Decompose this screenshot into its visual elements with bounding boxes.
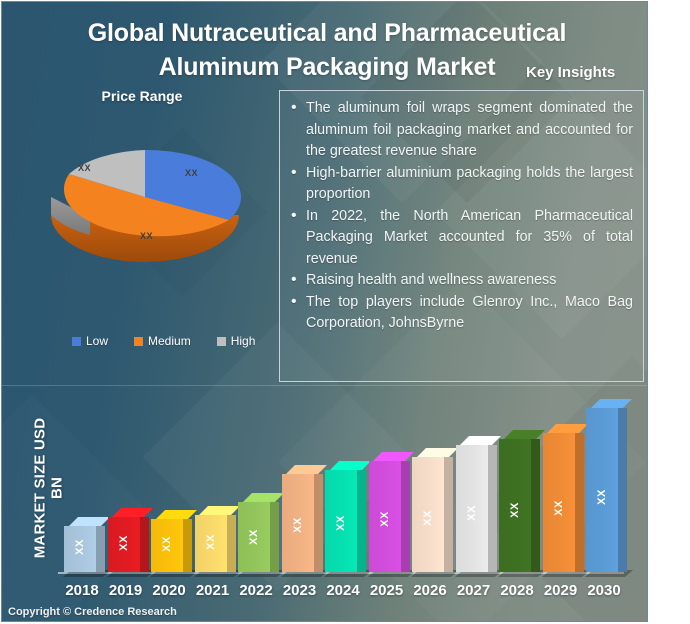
- pie-label-low: XX: [185, 168, 198, 178]
- x-axis-label-2020: 2020: [146, 582, 192, 599]
- infographic-root: Global Nutraceutical and Pharmaceutical …: [0, 0, 690, 624]
- legend-label-medium: Medium: [148, 334, 191, 348]
- x-axis-label-2024: 2024: [320, 582, 366, 599]
- list-item: In 2022, the North American Pharmaceutic…: [290, 206, 633, 271]
- pie-chart: XX XX XX: [30, 130, 260, 265]
- list-item: Raising health and wellness awareness: [290, 270, 633, 292]
- bar-value-label: XX: [422, 502, 434, 534]
- pie-chart-svg: [30, 130, 260, 265]
- legend-label-high: High: [231, 334, 256, 348]
- bar-side-face: [618, 408, 627, 572]
- x-axis-label-2018: 2018: [59, 582, 105, 599]
- bar-2025[interactable]: XX: [369, 461, 401, 572]
- legend-label-low: Low: [86, 334, 108, 348]
- legend-item-high[interactable]: High: [217, 334, 256, 348]
- legend-swatch-high: [217, 337, 226, 346]
- bar-2019[interactable]: XX: [108, 517, 140, 572]
- key-insights-heading: Key Insights: [526, 64, 615, 81]
- bar-value-label: XX: [74, 531, 86, 563]
- bar-2026[interactable]: XX: [412, 457, 444, 572]
- bar-2023[interactable]: XX: [282, 474, 314, 572]
- x-axis-label-2026: 2026: [407, 582, 453, 599]
- bar-2027[interactable]: XX: [456, 445, 488, 572]
- list-item: The aluminum foil wraps segment dominate…: [290, 98, 633, 163]
- bar-2022[interactable]: XX: [238, 502, 270, 572]
- copyright-notice: Copyright © Credence Research: [8, 606, 177, 618]
- x-axis-label-2022: 2022: [233, 582, 279, 599]
- list-item: The top players include Glenroy Inc., Ma…: [290, 292, 633, 335]
- bar-value-label: XX: [335, 507, 347, 539]
- x-axis-label-2027: 2027: [451, 582, 497, 599]
- bar-side-face: [357, 470, 366, 572]
- x-axis-label-2028: 2028: [494, 582, 540, 599]
- legend-swatch-medium: [134, 337, 143, 346]
- poster-canvas: Global Nutraceutical and Pharmaceutical …: [1, 1, 648, 622]
- bar-side-face: [575, 433, 584, 572]
- bar-side-face: [531, 439, 540, 572]
- bar-2018[interactable]: XX: [64, 526, 96, 572]
- bar-side-face: [270, 502, 279, 572]
- bar-2021[interactable]: XX: [195, 515, 227, 572]
- bar-side-face: [488, 445, 497, 572]
- legend-item-low[interactable]: Low: [72, 334, 108, 348]
- bar-value-label: XX: [205, 526, 217, 558]
- bar-value-label: XX: [248, 521, 260, 553]
- bar-chart: MARKET SIZE USD BN XXXXXXXXXXXXXXXXXXXXX…: [2, 386, 648, 622]
- x-axis-label-2019: 2019: [103, 582, 149, 599]
- bar-chart-x-axis: 2018201920202021202220232024202520262027…: [58, 582, 633, 606]
- bar-side-face: [96, 526, 105, 572]
- bar-side-face: [444, 457, 453, 572]
- bar-side-face: [401, 461, 410, 572]
- bar-value-label: XX: [596, 481, 608, 513]
- legend-item-medium[interactable]: Medium: [134, 334, 191, 348]
- bar-2030[interactable]: XX: [586, 408, 618, 572]
- bar-value-label: XX: [161, 528, 173, 560]
- pie-label-high: XX: [78, 163, 91, 173]
- key-insights-panel: The aluminum foil wraps segment dominate…: [279, 90, 644, 382]
- bar-side-face: [227, 515, 236, 572]
- bar-value-label: XX: [466, 497, 478, 529]
- bar-value-label: XX: [292, 509, 304, 541]
- x-axis-label-2023: 2023: [277, 582, 323, 599]
- bar-2024[interactable]: XX: [325, 470, 357, 572]
- bar-value-label: XX: [553, 492, 565, 524]
- key-insights-list: The aluminum foil wraps segment dominate…: [290, 98, 633, 335]
- bar-side-face: [314, 474, 323, 572]
- pie-legend: Low Medium High: [72, 334, 255, 348]
- x-axis-label-2021: 2021: [190, 582, 236, 599]
- x-axis-label-2030: 2030: [581, 582, 627, 599]
- bar-2020[interactable]: XX: [151, 519, 183, 572]
- bar-value-label: XX: [509, 494, 521, 526]
- x-axis-label-2029: 2029: [538, 582, 584, 599]
- bar-side-face: [140, 517, 149, 572]
- pie-label-medium: XX: [140, 231, 153, 241]
- list-item: High-barrier aluminium packaging holds t…: [290, 163, 633, 206]
- bar-2029[interactable]: XX: [543, 433, 575, 572]
- bar-side-face: [183, 519, 192, 572]
- pie-chart-title: Price Range: [82, 88, 202, 104]
- x-axis-label-2025: 2025: [364, 582, 410, 599]
- bar-value-label: XX: [118, 527, 130, 559]
- legend-swatch-low: [72, 337, 81, 346]
- bar-value-label: XX: [379, 503, 391, 535]
- bar-chart-plot: XXXXXXXXXXXXXXXXXXXXXXXXXX: [58, 386, 633, 576]
- bar-2028[interactable]: XX: [499, 439, 531, 572]
